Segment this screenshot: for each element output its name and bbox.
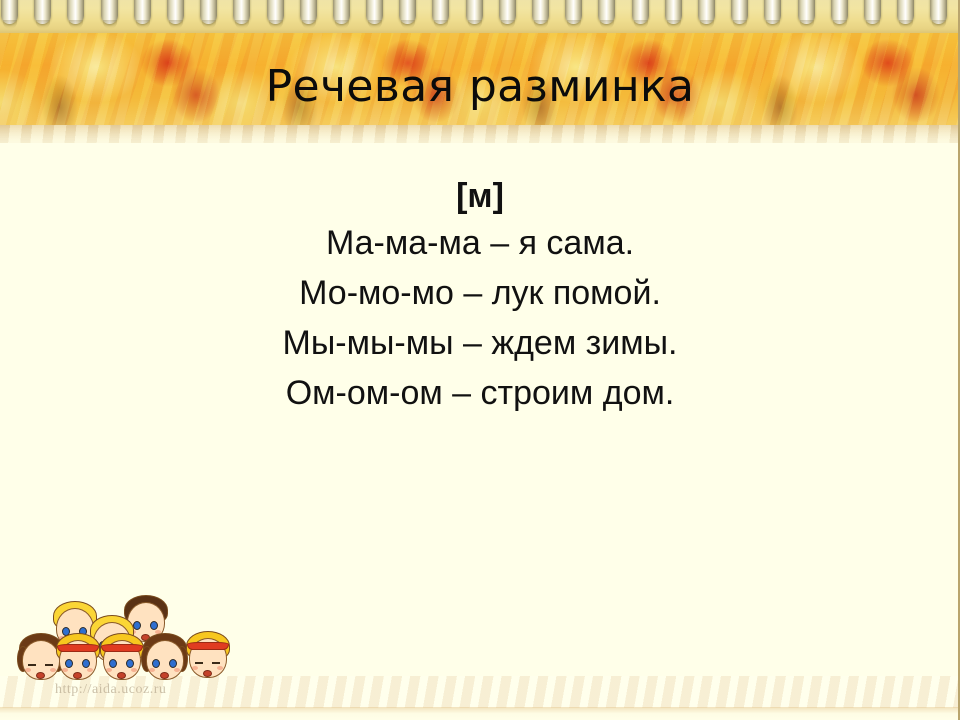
eye-left-icon bbox=[28, 663, 36, 666]
mouth-icon bbox=[117, 672, 126, 679]
spiral-ring bbox=[525, 0, 558, 34]
spiral-ring bbox=[425, 0, 458, 34]
cheek-right-icon bbox=[131, 668, 137, 672]
drill-line-2: Мо-мо-мо – лук помой. bbox=[0, 268, 960, 318]
spiral-ring bbox=[260, 0, 293, 34]
banner-reflection bbox=[0, 125, 960, 143]
spiral-binding-strip bbox=[0, 0, 960, 34]
spiral-ring bbox=[625, 0, 658, 34]
spiral-ring bbox=[791, 0, 824, 34]
spiral-ring bbox=[392, 0, 425, 34]
drill-line-1: Ма-ма-ма – я сама. bbox=[0, 218, 960, 268]
spiral-ring bbox=[27, 0, 60, 34]
spiral-ring bbox=[558, 0, 591, 34]
kid-smiling-girl bbox=[185, 630, 231, 682]
spiral-ring bbox=[94, 0, 127, 34]
spiral-ring bbox=[492, 0, 525, 34]
kid-red-band-girl bbox=[55, 632, 101, 684]
mouth-icon bbox=[36, 672, 45, 679]
spiral-ring bbox=[757, 0, 790, 34]
cheek-left-icon bbox=[149, 668, 155, 672]
drill-line-3: Мы-мы-мы – ждем зимы. bbox=[0, 318, 960, 368]
drill-line-4: Ом-ом-ом – строим дом. bbox=[0, 368, 960, 418]
spiral-ring bbox=[691, 0, 724, 34]
spiral-ring bbox=[459, 0, 492, 34]
eye-left-icon bbox=[152, 659, 160, 668]
phoneme-heading: [м] bbox=[0, 174, 960, 218]
cheek-right-icon bbox=[174, 668, 180, 672]
kid-gold-band-girl bbox=[99, 632, 145, 684]
spiral-ring bbox=[359, 0, 392, 34]
eye-left-icon bbox=[195, 661, 203, 664]
cheek-left-icon bbox=[25, 668, 31, 672]
spiral-ring bbox=[293, 0, 326, 34]
spiral-ring bbox=[923, 0, 956, 34]
spiral-ring bbox=[956, 0, 960, 34]
spiral-ring bbox=[326, 0, 359, 34]
eye-right-icon bbox=[212, 661, 220, 664]
cheek-left-icon bbox=[106, 668, 112, 672]
footer-reflection bbox=[0, 707, 960, 720]
headband-icon bbox=[101, 644, 143, 652]
spiral-ring-row bbox=[0, 0, 960, 34]
speech-drill-block: [м] Ма-ма-ма – я сама. Мо-мо-мо – лук по… bbox=[0, 174, 960, 418]
kid-pigtail-girl bbox=[142, 632, 188, 684]
spiral-ring bbox=[60, 0, 93, 34]
spiral-ring bbox=[890, 0, 923, 34]
headband-icon bbox=[187, 642, 229, 650]
children-faces-clipart bbox=[18, 598, 258, 684]
page-title: Речевая разминка bbox=[0, 61, 960, 113]
spiral-ring bbox=[226, 0, 259, 34]
spiral-ring bbox=[658, 0, 691, 34]
spiral-ring bbox=[824, 0, 857, 34]
spiral-ring bbox=[193, 0, 226, 34]
eye-right-icon bbox=[45, 663, 53, 666]
spiral-ring bbox=[0, 0, 27, 34]
spiral-ring bbox=[591, 0, 624, 34]
mouth-icon bbox=[160, 672, 169, 679]
spiral-ring bbox=[724, 0, 757, 34]
spiral-ring bbox=[160, 0, 193, 34]
headband-icon bbox=[57, 644, 99, 652]
eye-right-icon bbox=[169, 659, 177, 668]
eye-right-icon bbox=[126, 659, 134, 668]
spiral-ring bbox=[127, 0, 160, 34]
eye-left-icon bbox=[109, 659, 117, 668]
spiral-ring bbox=[857, 0, 890, 34]
presentation-slide: Речевая разминка [м] Ма-ма-ма – я сама. … bbox=[0, 0, 960, 720]
source-watermark: http://aida.ucoz.ru bbox=[55, 682, 166, 698]
